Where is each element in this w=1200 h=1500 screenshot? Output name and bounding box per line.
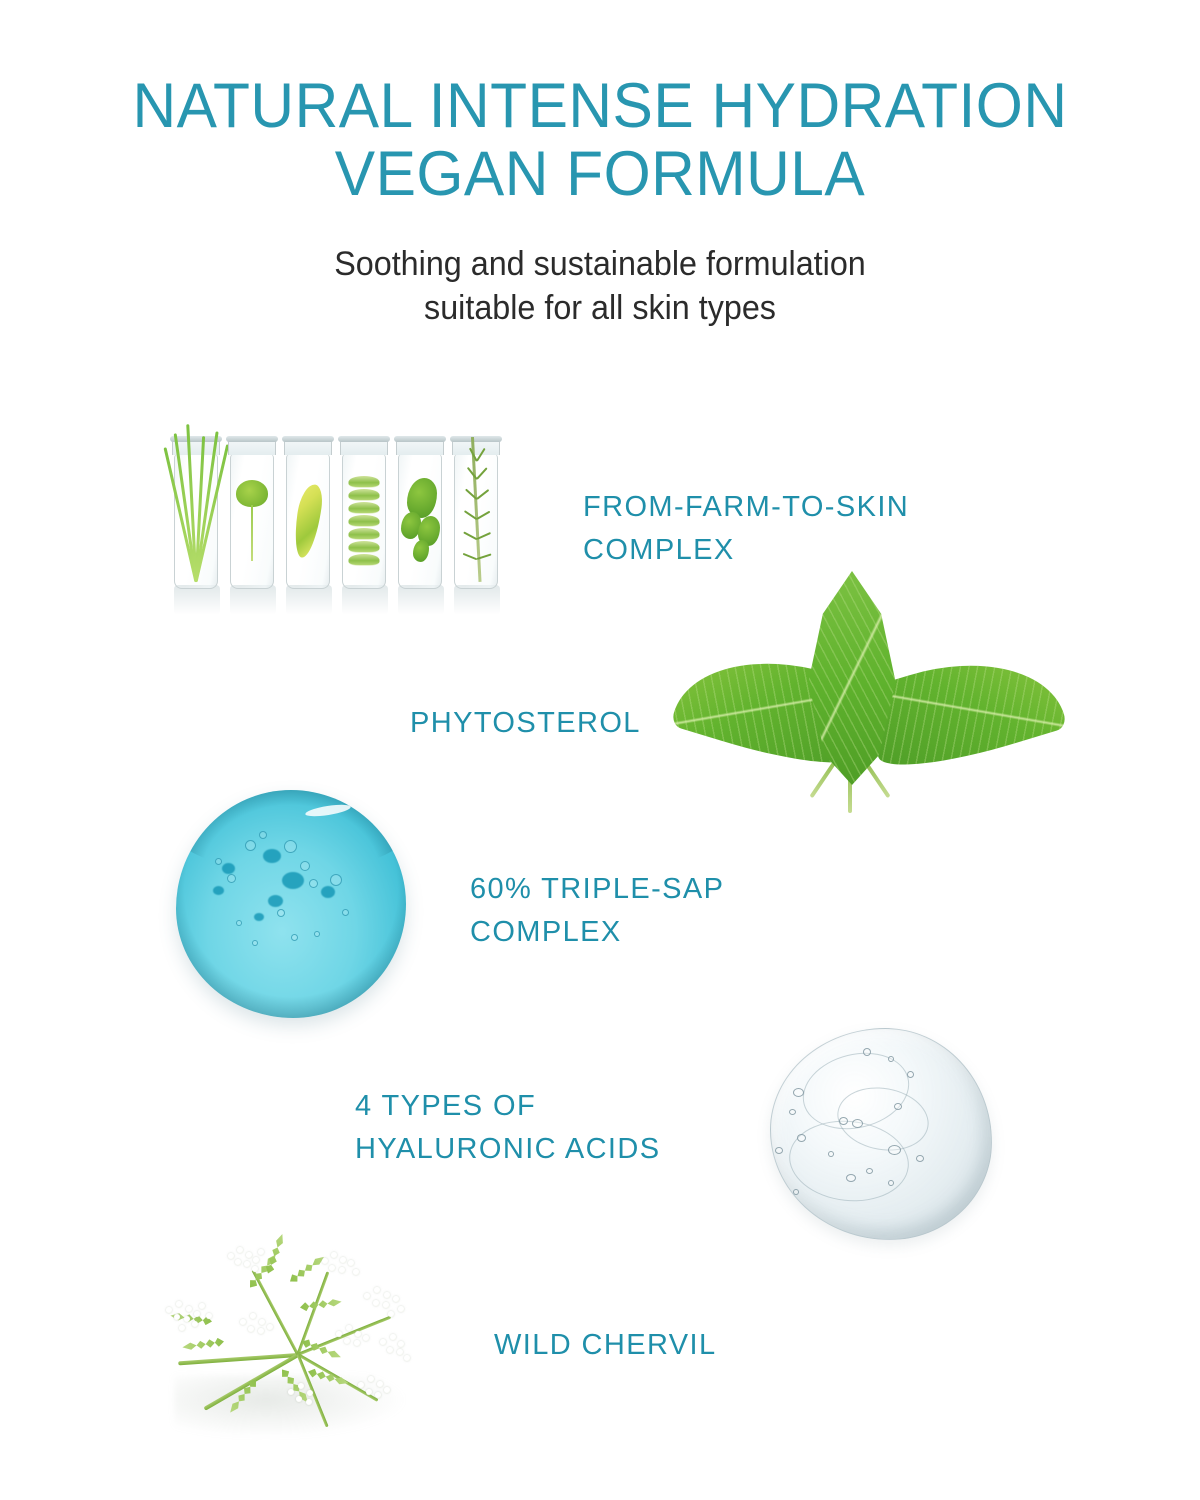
label-line-2: HYALURONIC ACIDS xyxy=(355,1128,660,1171)
ingredient-label-phytosterol: PHYTOSTEROL xyxy=(410,702,641,745)
label-line-1: 4 TYPES OF xyxy=(355,1085,660,1128)
label-line-1: 60% TRIPLE-SAP xyxy=(470,868,724,911)
title-line-2: VEGAN FORMULA xyxy=(24,140,1176,208)
vial-avocado xyxy=(286,454,330,589)
label-line-1: WILD CHERVIL xyxy=(494,1324,717,1367)
title-line-1: NATURAL INTENSE HYDRATION xyxy=(24,72,1176,140)
vial-aloe xyxy=(342,454,386,589)
header: NATURAL INTENSE HYDRATION VEGAN FORMULA … xyxy=(0,0,1200,330)
ingredient-label-from-farm-to-skin: FROM-FARM-TO-SKIN COMPLEX xyxy=(583,486,909,572)
product-infographic: NATURAL INTENSE HYDRATION VEGAN FORMULA … xyxy=(0,0,1200,1500)
clear-gel-blob-image xyxy=(770,1028,992,1240)
label-line-1: PHYTOSTEROL xyxy=(410,702,641,745)
ingredient-label-wild-chervil: WILD CHERVIL xyxy=(494,1324,717,1367)
subtitle-line-1: Soothing and sustainable formulation xyxy=(30,242,1170,286)
botanical-vials-image xyxy=(168,412,520,627)
ingredient-label-triple-sap-complex: 60% TRIPLE-SAP COMPLEX xyxy=(470,868,724,954)
ingredient-label-hyaluronic-acids: 4 TYPES OF HYALURONIC ACIDS xyxy=(355,1085,660,1171)
label-line-2: COMPLEX xyxy=(470,911,724,954)
subtitle-line-2: suitable for all skin types xyxy=(30,286,1170,330)
green-leaves-image xyxy=(672,565,1072,850)
blue-gel-droplet-image xyxy=(176,790,406,1018)
vial-mint xyxy=(398,454,442,589)
vial-rosemary xyxy=(454,454,498,589)
label-line-1: FROM-FARM-TO-SKIN xyxy=(583,486,909,529)
vial-wheatgrass xyxy=(174,454,218,589)
vial-centella xyxy=(230,454,274,589)
page-subtitle: Soothing and sustainable formulation sui… xyxy=(30,242,1170,330)
wild-chervil-flowers-image xyxy=(150,1225,450,1450)
page-title: NATURAL INTENSE HYDRATION VEGAN FORMULA xyxy=(24,0,1176,208)
